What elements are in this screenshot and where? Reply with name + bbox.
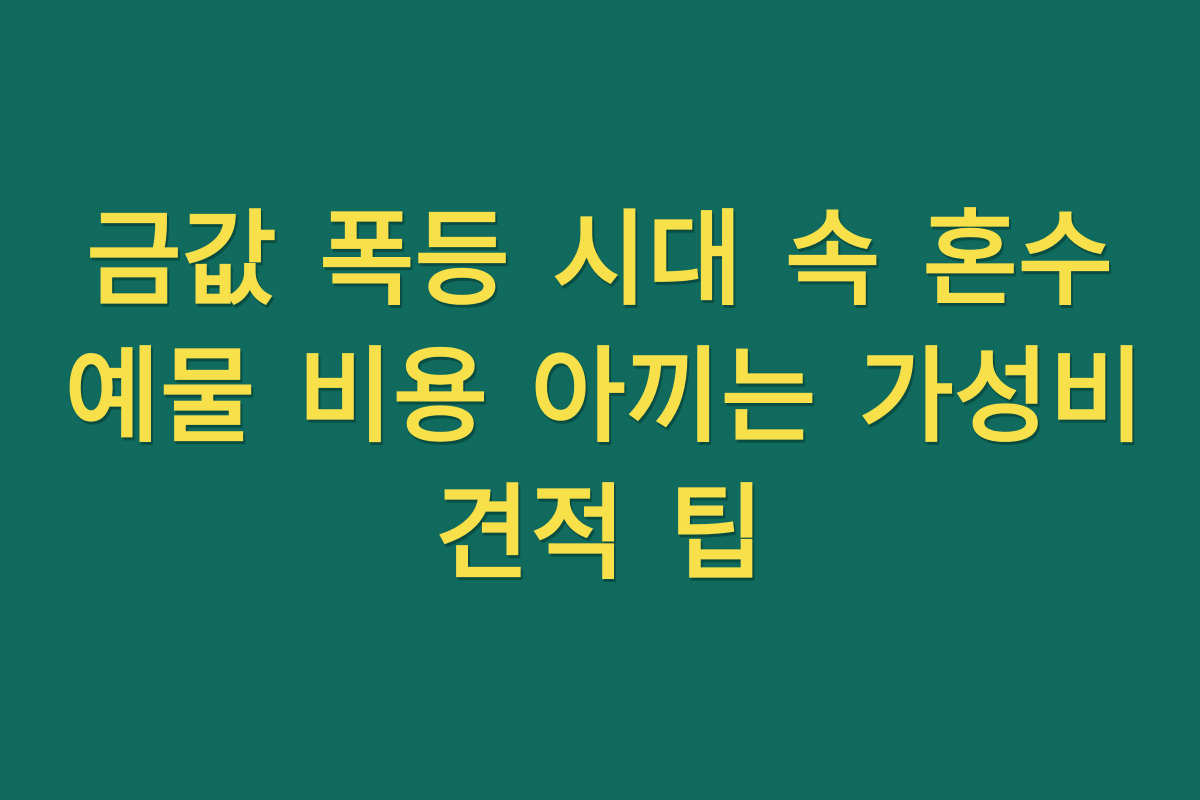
headline-line-1: 금값 폭등 시대 속 혼수 xyxy=(65,192,1135,329)
headline: 금값 폭등 시대 속 혼수 예물 비용 아끼는 가성비 견적 팁 xyxy=(65,192,1135,603)
headline-line-3: 견적 팁 xyxy=(65,466,1135,603)
text-card: 금값 폭등 시대 속 혼수 예물 비용 아끼는 가성비 견적 팁 xyxy=(0,0,1200,800)
headline-line-2: 예물 비용 아끼는 가성비 xyxy=(65,329,1135,466)
